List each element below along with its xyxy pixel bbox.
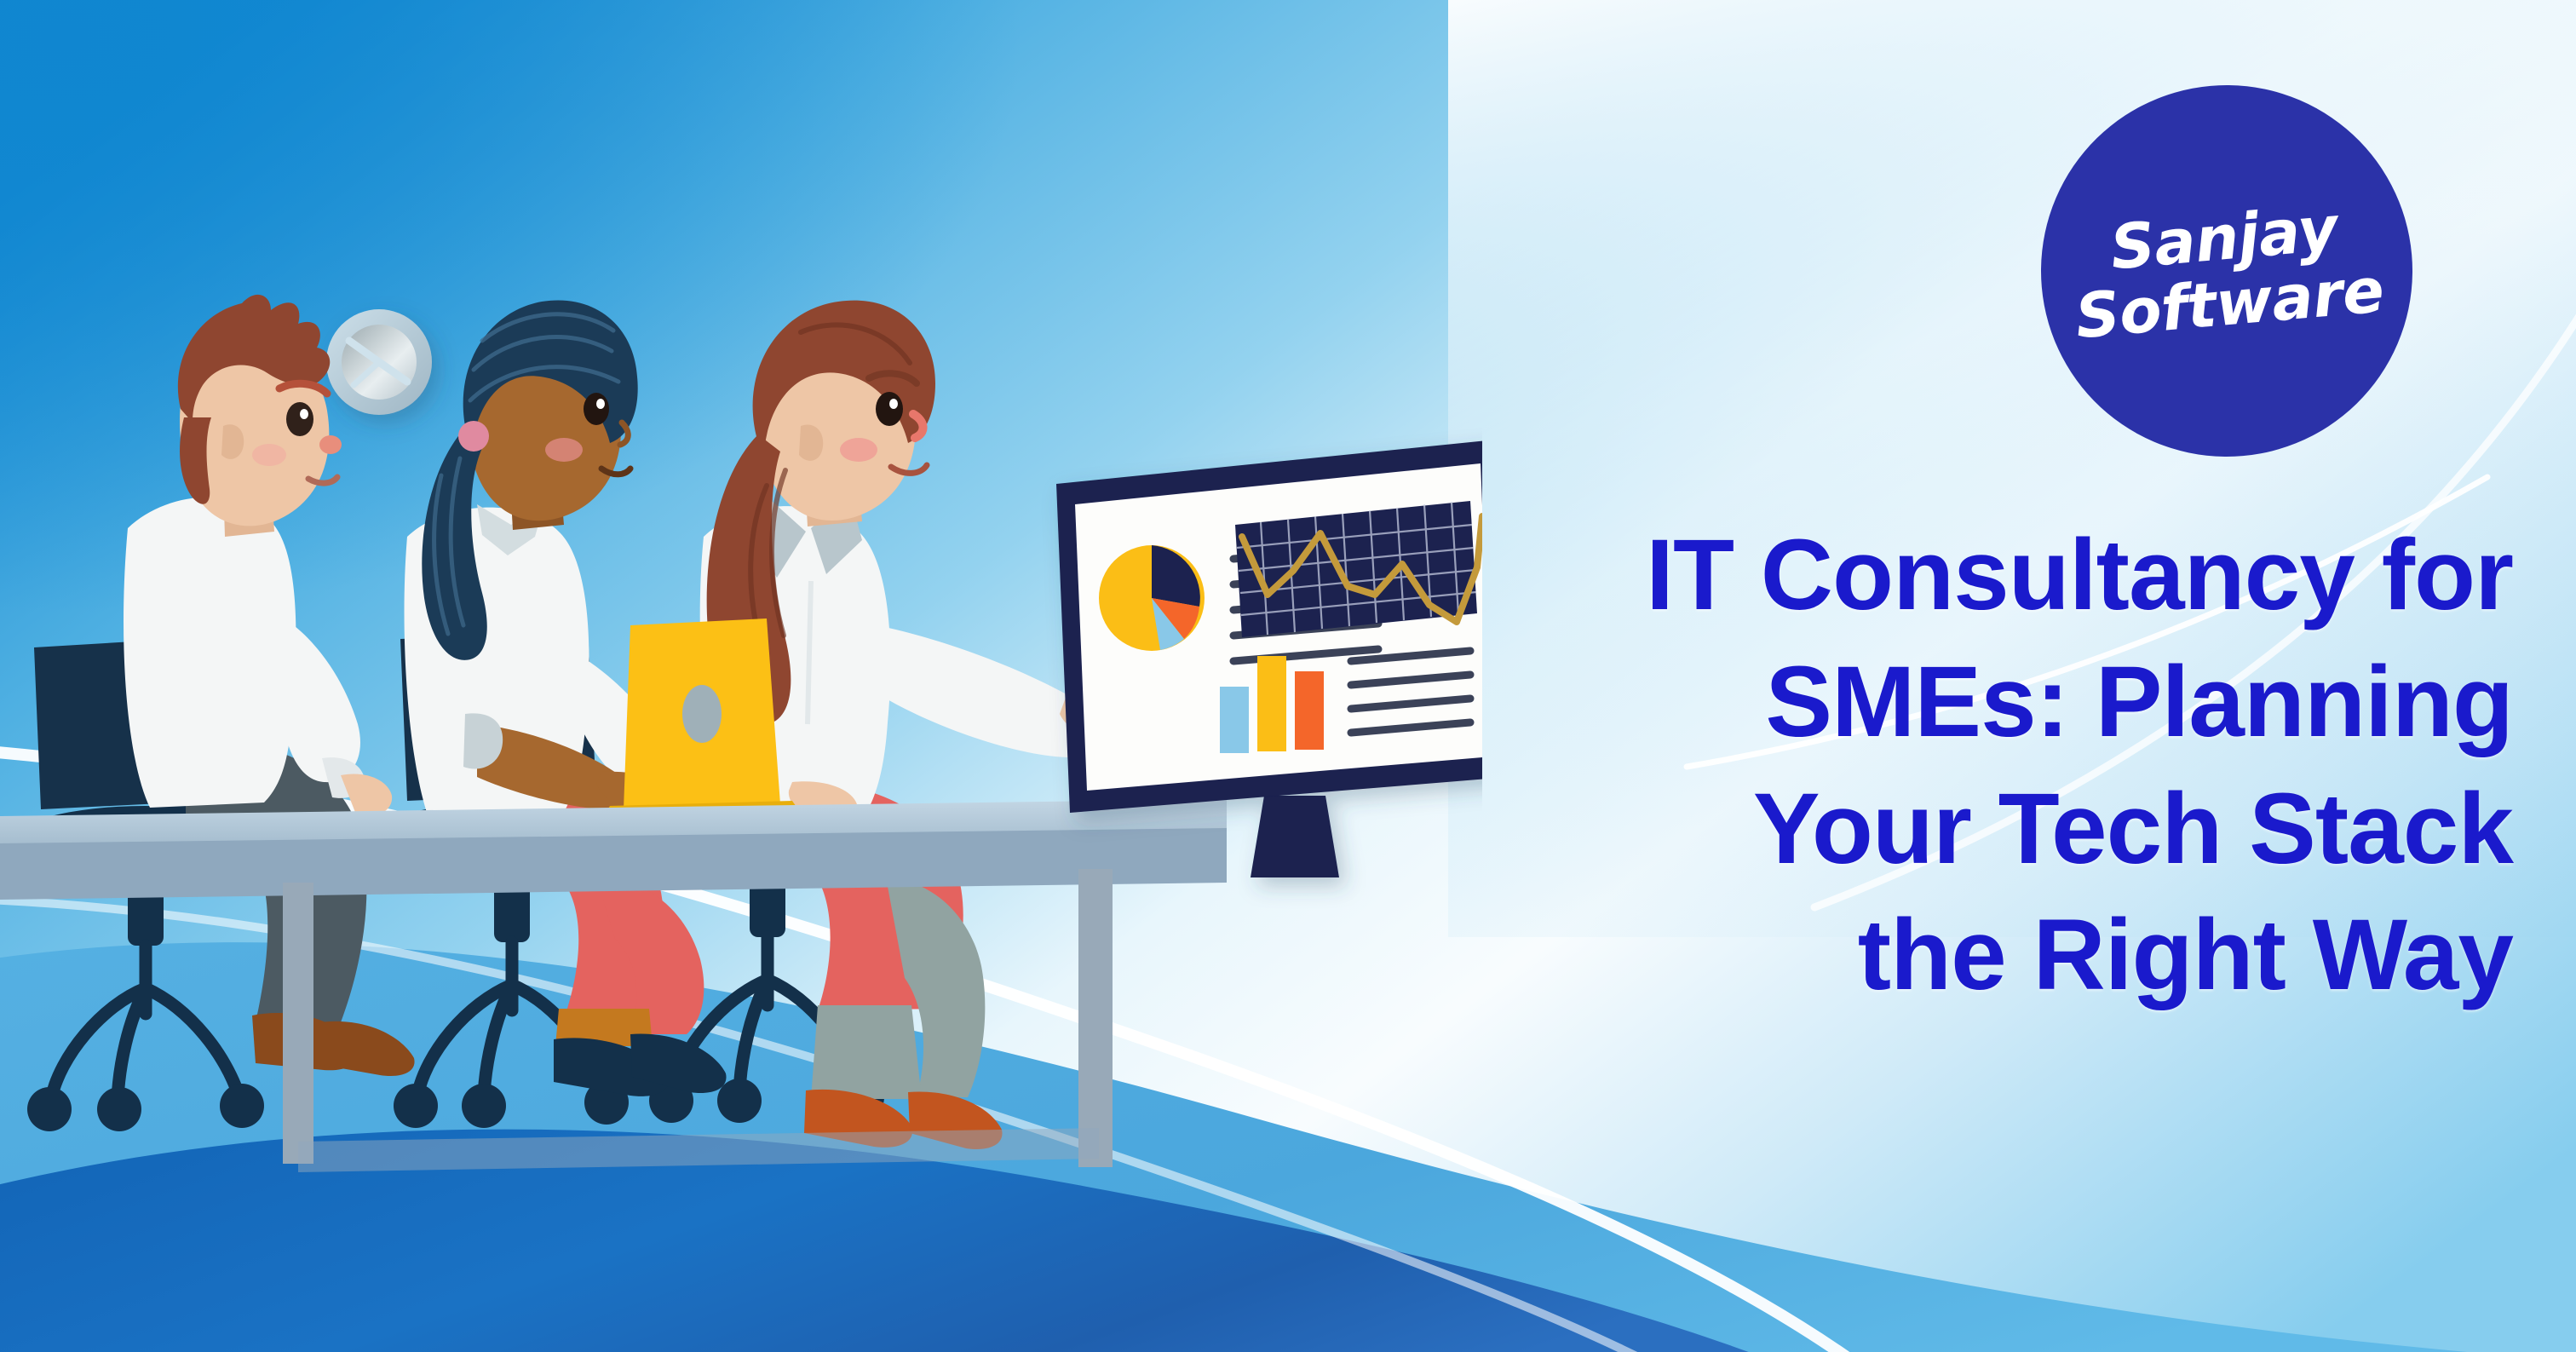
person-2-eye bbox=[584, 393, 609, 425]
person-2-mouth bbox=[601, 469, 630, 475]
headline-line-2: SMEs: Planning bbox=[1499, 639, 2513, 766]
person-3-cheek bbox=[840, 438, 877, 462]
headline-line-3: Your Tech Stack bbox=[1499, 766, 2513, 893]
person-3-button-line bbox=[808, 581, 811, 724]
person-1-sideburn bbox=[180, 417, 211, 504]
banner-canvas: Sanjay Software IT Consultancy for SMEs:… bbox=[0, 0, 2576, 1352]
headline-line-1: IT Consultancy for bbox=[1499, 512, 2513, 639]
person-1-eye-shine bbox=[300, 409, 308, 419]
office-meeting-illustration bbox=[0, 281, 1482, 1193]
person-3-eye-shine bbox=[889, 399, 898, 409]
person-1-eye bbox=[286, 402, 313, 436]
laptop-logo bbox=[682, 685, 722, 743]
person-2-eye-shine bbox=[596, 399, 605, 409]
monitor-stand bbox=[1251, 796, 1339, 877]
person-3-leg-2 bbox=[811, 1005, 922, 1099]
dashboard-line-chart bbox=[1235, 501, 1482, 637]
person-1-cheek bbox=[252, 444, 286, 466]
headline-line-4: the Right Way bbox=[1499, 892, 2513, 1019]
wall-clock-icon bbox=[326, 309, 432, 415]
person-2-cheek bbox=[545, 438, 583, 462]
table-leg-left bbox=[283, 883, 313, 1164]
table-leg-right bbox=[1078, 869, 1113, 1167]
person-1-mouth bbox=[308, 477, 337, 483]
person-2-hair-tie bbox=[458, 421, 489, 452]
person-1-nose bbox=[319, 435, 342, 454]
table-brace bbox=[298, 1128, 1099, 1172]
person-3-eye bbox=[876, 392, 903, 426]
dashboard-pie-chart bbox=[1099, 545, 1205, 651]
headline-title: IT Consultancy for SMEs: Planning Your T… bbox=[1499, 512, 2513, 1019]
